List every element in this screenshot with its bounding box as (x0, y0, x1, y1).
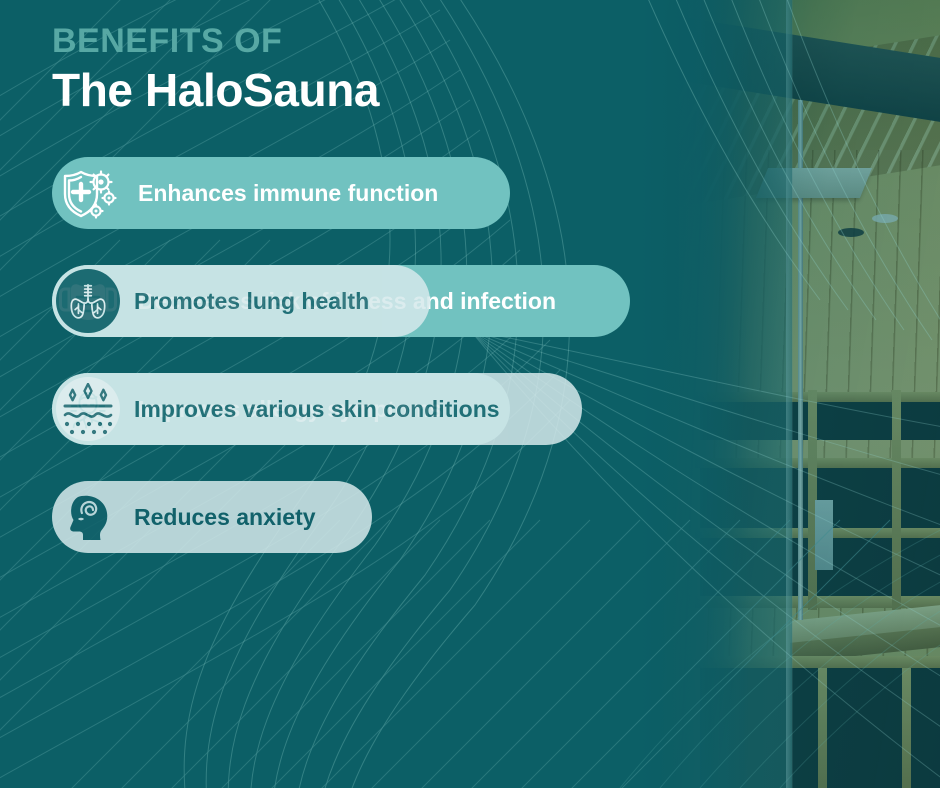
lungs-icon (67, 280, 109, 322)
sauna-interior-photo (640, 0, 940, 788)
benefit-label: Promotes lung health (134, 288, 369, 315)
benefit-label: Enhances immune function (138, 180, 438, 207)
page-title: The HaloSauna (52, 64, 379, 117)
infographic-poster: BENEFITS OF The HaloSauna (0, 0, 940, 788)
lungs-icon-badge (52, 265, 124, 337)
header: BENEFITS OF The HaloSauna (52, 24, 379, 117)
photo-left-fade (640, 0, 750, 788)
benefit-item-immune[interactable]: Enhances immune function (52, 157, 510, 229)
head-spiral-icon (52, 481, 124, 553)
benefit-item-lungs[interactable]: Promotes lung health (52, 265, 430, 337)
icon-badge-dark (56, 269, 120, 333)
benefit-item-anxiety[interactable]: Reduces anxiety (52, 481, 372, 553)
benefit-label: Reduces anxiety (134, 504, 316, 531)
benefits-list: Enhances immune function (52, 157, 630, 481)
shield-virus-icon (52, 157, 124, 229)
kicker-text: BENEFITS OF (52, 24, 379, 60)
benefit-label: Improves various skin conditions (134, 396, 500, 423)
benefit-item-skin[interactable]: Improves various skin conditions (52, 373, 582, 445)
skin-sparkle-icon (52, 373, 124, 445)
